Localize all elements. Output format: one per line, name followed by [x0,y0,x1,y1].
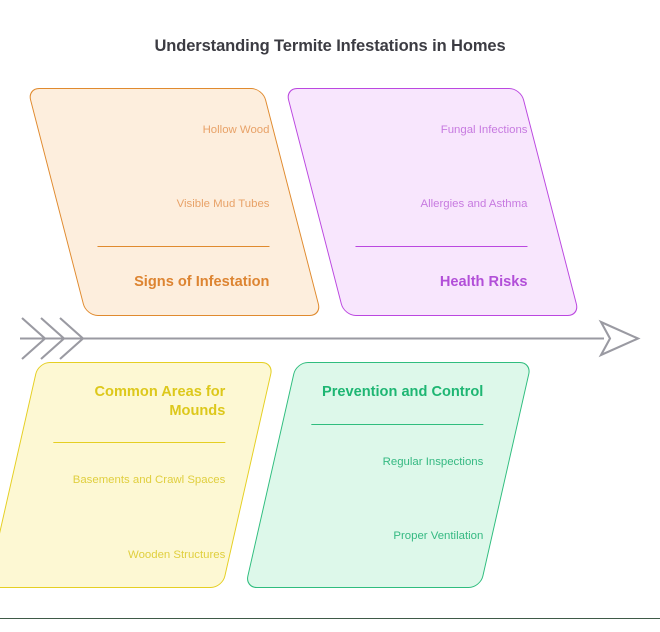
card-item: Regular Inspections [293,455,483,469]
card-item: Wooden Structures [35,548,225,562]
card-divider [53,442,225,443]
card-item: Hollow Wood [79,123,269,137]
card-divider [311,424,483,425]
card-heading: Signs of Infestation [79,273,269,292]
card-divider [355,246,527,247]
footer-divider [0,618,660,619]
card-item: Fungal Infections [337,123,527,137]
card-common-areas-for-mounds[interactable]: Common Areas for Mounds Basements and Cr… [0,362,274,588]
card-prevention-and-control[interactable]: Prevention and Control Regular Inspectio… [245,362,532,588]
card-heading: Health Risks [337,273,527,292]
card-signs-of-infestation[interactable]: Hollow Wood Visible Mud Tubes Signs of I… [27,88,322,316]
card-heading: Common Areas for Mounds [35,383,225,420]
arrow-fletching [22,318,83,359]
card-item: Visible Mud Tubes [79,197,269,211]
page-title: Understanding Termite Infestations in Ho… [0,37,660,56]
card-heading: Prevention and Control [293,383,483,402]
card-health-risks[interactable]: Fungal Infections Allergies and Asthma H… [285,88,580,316]
card-divider [97,246,269,247]
card-item: Allergies and Asthma [337,197,527,211]
card-item: Proper Ventilation [293,529,483,543]
diagram-canvas: Understanding Termite Infestations in Ho… [0,0,660,632]
card-item: Basements and Crawl Spaces [35,473,225,487]
arrow-head [601,322,638,355]
